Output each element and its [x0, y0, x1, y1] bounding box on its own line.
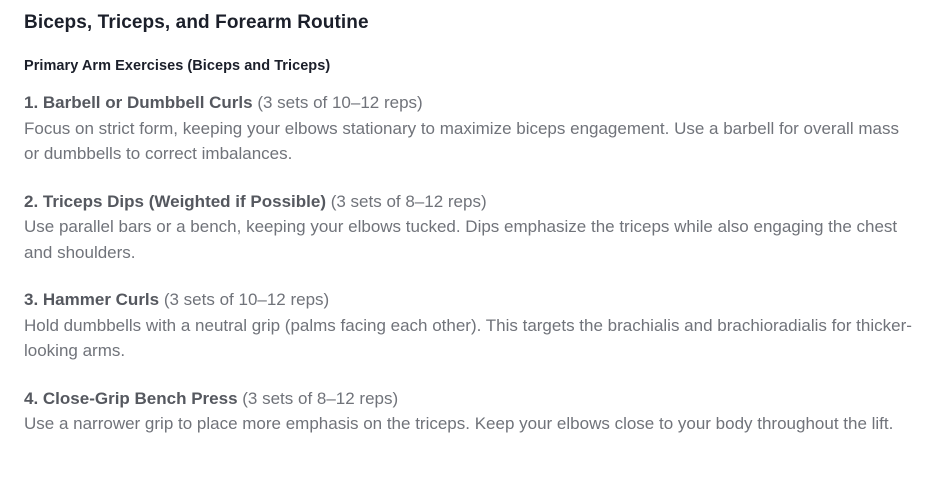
exercise-title-line: 1. Barbell or Dumbbell Curls (3 sets of …: [24, 90, 914, 116]
exercise-item: 4. Close-Grip Bench Press (3 sets of 8–1…: [24, 386, 928, 437]
exercise-description: Use parallel bars or a bench, keeping yo…: [24, 214, 914, 265]
exercise-name: 1. Barbell or Dumbbell Curls: [24, 93, 253, 112]
exercise-title-line: 2. Triceps Dips (Weighted if Possible) (…: [24, 189, 914, 215]
exercise-name: 2. Triceps Dips (Weighted if Possible): [24, 192, 326, 211]
page-title: Biceps, Triceps, and Forearm Routine: [24, 8, 928, 36]
exercise-sets-reps: (3 sets of 10–12 reps): [253, 93, 423, 112]
exercise-sets-reps: (3 sets of 8–12 reps): [238, 389, 399, 408]
exercise-title-line: 3. Hammer Curls (3 sets of 10–12 reps): [24, 287, 914, 313]
exercise-description: Focus on strict form, keeping your elbow…: [24, 116, 914, 167]
exercise-name: 4. Close-Grip Bench Press: [24, 389, 238, 408]
exercise-item: 2. Triceps Dips (Weighted if Possible) (…: [24, 189, 928, 266]
exercise-description: Use a narrower grip to place more emphas…: [24, 411, 914, 437]
section-heading-primary-arm-exercises: Primary Arm Exercises (Biceps and Tricep…: [24, 56, 928, 76]
exercise-sets-reps: (3 sets of 10–12 reps): [159, 290, 329, 309]
exercise-item: 1. Barbell or Dumbbell Curls (3 sets of …: [24, 90, 928, 167]
exercise-sets-reps: (3 sets of 8–12 reps): [326, 192, 487, 211]
document-page: Biceps, Triceps, and Forearm Routine Pri…: [0, 0, 952, 500]
exercise-description: Hold dumbbells with a neutral grip (palm…: [24, 313, 914, 364]
exercise-name: 3. Hammer Curls: [24, 290, 159, 309]
exercise-item: 3. Hammer Curls (3 sets of 10–12 reps) H…: [24, 287, 928, 364]
exercise-title-line: 4. Close-Grip Bench Press (3 sets of 8–1…: [24, 386, 914, 412]
